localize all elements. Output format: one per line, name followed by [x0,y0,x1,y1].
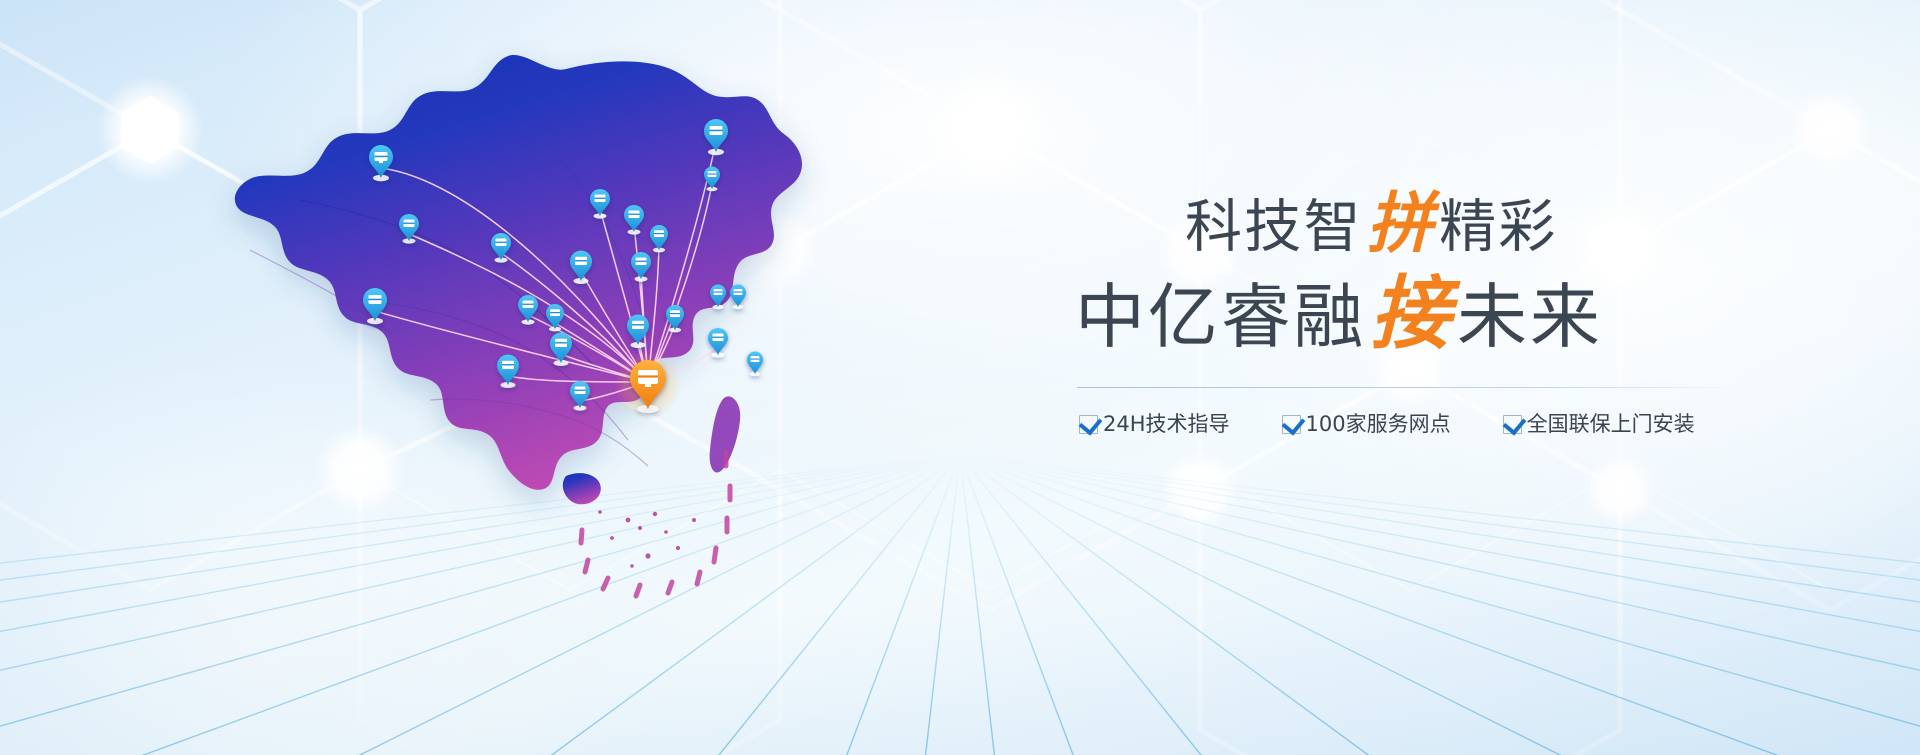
headline-line-1-before: 科技智 [1185,194,1363,260]
banner-text-block: 科技智拼精彩 中亿睿融接未来 24H技术指导 100家服务网点 全国联保上门安装 [1075,185,1835,435]
feature-item-2: 全国联保上门安装 [1503,414,1695,435]
headline-line-2-before: 中亿睿融 [1075,276,1366,358]
checkbox-checked-icon [1079,415,1098,434]
headline-line-1-accent: 拼 [1363,184,1439,262]
checkbox-checked-icon [1282,415,1301,434]
headline-divider [1077,387,1745,388]
feature-list: 24H技术指导 100家服务网点 全国联保上门安装 [1075,414,1835,435]
headline-line-2-accent: 接 [1366,266,1457,360]
headline-line-2: 中亿睿融接未来 [1075,265,1835,361]
headline-line-1: 科技智拼精彩 [1075,185,1835,263]
feature-item-0: 24H技术指导 [1079,414,1230,435]
feature-label-1: 100家服务网点 [1306,414,1451,435]
headline-line-2-after: 未来 [1457,276,1603,358]
hero-banner: 科技智拼精彩 中亿睿融接未来 24H技术指导 100家服务网点 全国联保上门安装 [0,0,1920,755]
checkbox-checked-icon [1503,415,1522,434]
feature-label-2: 全国联保上门安装 [1527,414,1695,435]
feature-item-1: 100家服务网点 [1282,414,1451,435]
headline-line-1-after: 精彩 [1439,194,1558,260]
feature-label-0: 24H技术指导 [1103,414,1230,435]
